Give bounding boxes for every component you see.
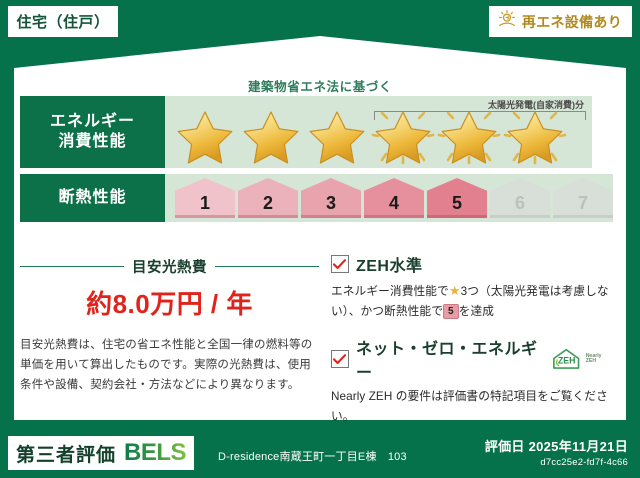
- star-filled: [173, 105, 237, 165]
- zeh-standard-body: エネルギー消費性能で★3つ（太陽光発電は考慮しない）、かつ断熱性能で5を達成: [331, 280, 612, 321]
- insulation-label-text: 断熱性能: [58, 188, 126, 208]
- insulation-performance-row: 断熱性能 1234567: [20, 174, 592, 222]
- insulation-level-1: 1: [175, 178, 235, 218]
- badge-renewable-label: 再エネ設備あり: [522, 12, 622, 32]
- badge-renewable-equipment: 再エネ設備あり: [489, 6, 632, 37]
- netzero-body: Nearly ZEH の要件は評価書の特記項目をご覧ください。: [331, 387, 612, 426]
- netzero-title: ネット・ゼロ・エネルギー: [356, 335, 544, 383]
- evaluation-date: 評価日 2025年11月21日: [485, 436, 628, 455]
- zeh-house-logo: ZEH Nearly ZEH: [551, 347, 612, 371]
- insulation-level-number: 6: [515, 193, 525, 214]
- insulation-scale: 1234567: [165, 178, 613, 218]
- zeh-standard-title: ZEH水準: [356, 252, 423, 276]
- cost-value: 約8.0万円 / 年: [20, 284, 319, 321]
- zeh-body-pre: エネルギー消費性能で: [331, 285, 449, 298]
- bels-logo: BELS: [124, 439, 186, 467]
- star-filled: [239, 105, 303, 165]
- label-root: 住宅（住戸） 再エネ設備あり 建築物省エネ法に基づく 省エネ性能ラベル: [0, 0, 640, 478]
- cost-rule-right: [215, 266, 319, 268]
- insulation-level-2: 2: [238, 178, 298, 218]
- insulation-level-5: 5: [427, 178, 487, 218]
- zeh-logo-sub: Nearly ZEH: [586, 354, 612, 365]
- cost-heading-text: 目安光熱費: [132, 256, 207, 277]
- insulation-performance-body: 1234567: [165, 174, 613, 222]
- energy-star-rating: [165, 105, 567, 165]
- cost-heading: 目安光熱費: [20, 256, 319, 277]
- check-icon: [333, 259, 346, 270]
- insulation-level-7: 7: [553, 178, 613, 218]
- zeh-column: ZEH水準 エネルギー消費性能で★3つ（太陽光発電は考慮しない）、かつ断熱性能で…: [319, 252, 612, 427]
- svg-text:ZEH: ZEH: [558, 356, 575, 366]
- section-gap: [331, 321, 612, 335]
- badge-housing-type-label: 住宅（住戸）: [16, 11, 109, 32]
- check-icon: [333, 354, 346, 365]
- energy-label-line2: 消費性能: [58, 132, 126, 152]
- mini-star-icon: ★: [449, 283, 461, 298]
- evaluation-id: d7cc25e2-fd7f-4c66: [485, 457, 628, 468]
- bels-certification-mark: 第三者評価 BELS: [8, 436, 194, 470]
- bels-jp-label: 第三者評価: [16, 440, 116, 467]
- zeh-body-post: を達成: [459, 305, 494, 318]
- insulation-level-3: 3: [301, 178, 361, 218]
- insulation-level-number: 5: [452, 193, 462, 214]
- energy-performance-row: エネルギー 消費性能 太陽光発電(自家消費)分: [20, 96, 592, 168]
- zeh-level-badge: 5: [443, 304, 459, 319]
- star-solar: [503, 105, 567, 165]
- insulation-level-number: 3: [326, 193, 336, 214]
- star-filled: [305, 105, 369, 165]
- insulation-performance-label: 断熱性能: [20, 174, 165, 222]
- details-section: 目安光熱費 約8.0万円 / 年 目安光熱費は、住宅の省エネ性能と全国一律の燃料…: [20, 252, 612, 427]
- star-solar: [371, 105, 435, 165]
- energy-performance-body: 太陽光発電(自家消費)分: [165, 96, 592, 168]
- evaluation-info: 評価日 2025年11月21日 d7cc25e2-fd7f-4c66: [485, 436, 628, 468]
- cost-column: 目安光熱費 約8.0万円 / 年 目安光熱費は、住宅の省エネ性能と全国一律の燃料…: [20, 252, 319, 427]
- building-name: D-residence南蔵王町一丁目E棟 103: [218, 448, 407, 464]
- cost-rule-left: [20, 266, 124, 268]
- insulation-level-6: 6: [490, 178, 550, 218]
- sun-icon: [497, 9, 517, 34]
- energy-performance-label: エネルギー 消費性能: [20, 96, 165, 168]
- insulation-level-number: 4: [389, 193, 399, 214]
- badge-housing-type: 住宅（住戸）: [8, 6, 118, 37]
- insulation-level-number: 2: [263, 193, 273, 214]
- energy-label-line1: エネルギー: [50, 112, 135, 132]
- insulation-level-4: 4: [364, 178, 424, 218]
- insulation-level-number: 7: [578, 193, 588, 214]
- zeh-standard-checkbox[interactable]: [331, 255, 349, 273]
- cost-note: 目安光熱費は、住宅の省エネ性能と全国一律の燃料等の単価を用いて算出したものです。…: [20, 335, 319, 395]
- star-solar: [437, 105, 501, 165]
- netzero-heading: ネット・ゼロ・エネルギー ZEH Nearly ZEH: [331, 335, 612, 383]
- zeh-house-icon: ZEH: [551, 347, 583, 371]
- netzero-checkbox[interactable]: [331, 350, 349, 368]
- title-subtitle: 建築物省エネ法に基づく: [14, 76, 626, 95]
- insulation-level-number: 1: [200, 193, 210, 214]
- zeh-standard-heading: ZEH水準: [331, 252, 612, 276]
- performance-section: エネルギー 消費性能 太陽光発電(自家消費)分 断熱性能 1234567: [20, 96, 592, 228]
